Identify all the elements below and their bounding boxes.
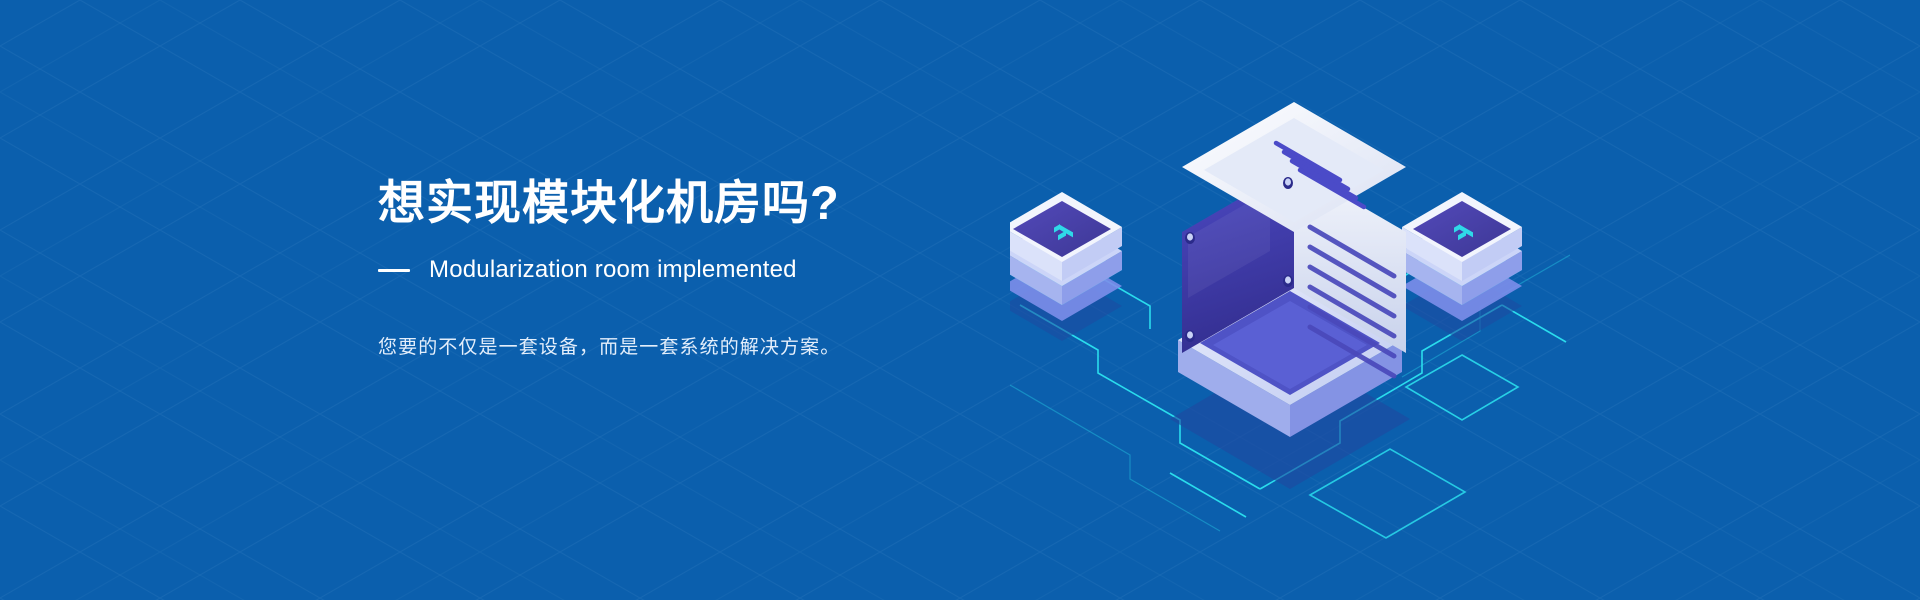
subtitle-row: Modularization room implemented <box>378 256 1018 284</box>
hero-text-block: 想实现模块化机房吗? Modularization room implement… <box>378 175 1018 359</box>
page-description: 您要的不仅是一套设备，而是一套系统的解决方案。 <box>378 332 1018 359</box>
dash-rule-icon <box>378 269 410 272</box>
chip-module-left <box>1010 192 1122 341</box>
page-title: 想实现模块化机房吗? <box>378 175 1018 230</box>
isometric-data-center-illustration <box>1010 55 1570 545</box>
hero-banner: 想实现模块化机房吗? Modularization room implement… <box>0 0 1920 600</box>
page-subtitle: Modularization room implemented <box>429 256 797 284</box>
chip-module-right <box>1402 192 1522 341</box>
